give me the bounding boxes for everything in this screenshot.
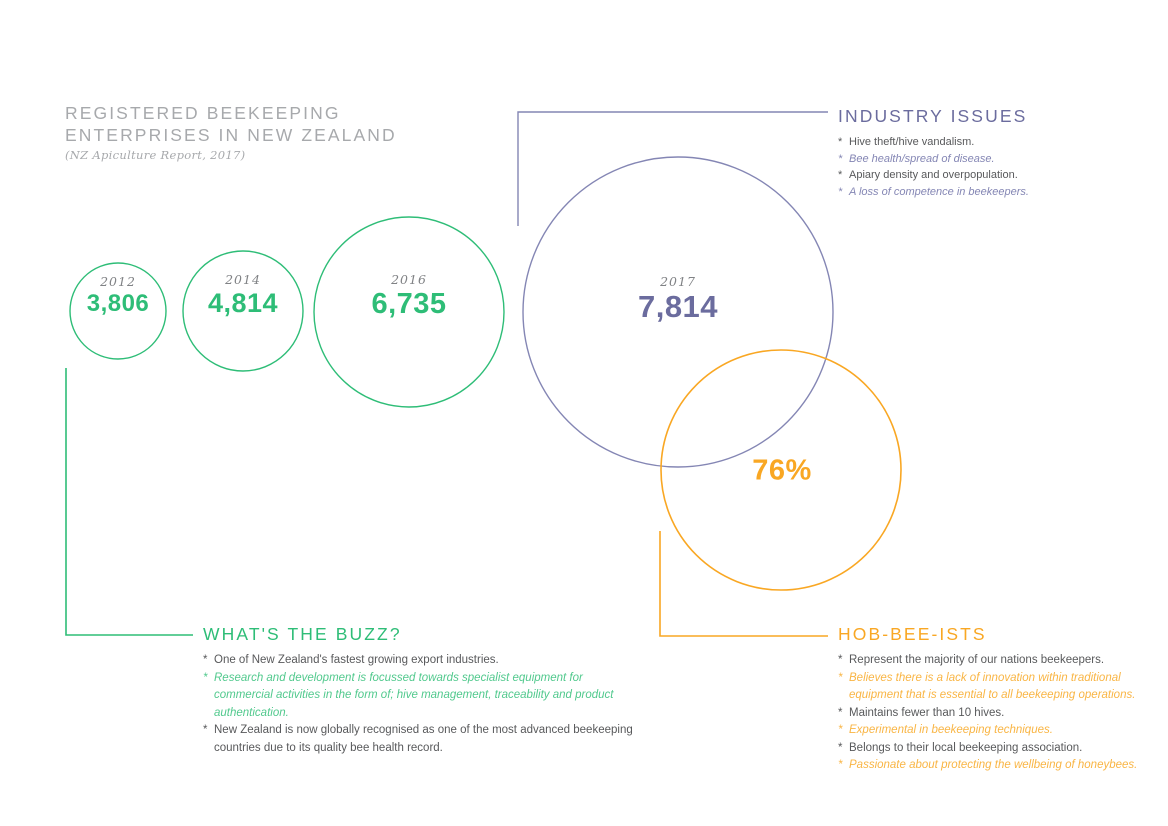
panel-industry-issues-list: *Hive theft/hive vandalism.*Bee health/s… (838, 134, 1138, 200)
list-item: *Bee health/spread of disease. (838, 151, 1138, 168)
bubble-value-2017: 7,814 (638, 291, 718, 324)
panel-hobbeeists-list: *Represent the majority of our nations b… (838, 652, 1138, 775)
bubble-label-2017: 2017 7,814 (638, 274, 718, 324)
bullet-marker: * (838, 740, 842, 758)
list-item: *Experimental in beekeeping techniques. (838, 722, 1138, 740)
bullet-marker: * (838, 670, 842, 688)
list-item: *Hive theft/hive vandalism. (838, 134, 1138, 151)
list-item-text: New Zealand is now globally recognised a… (214, 724, 633, 754)
list-item: *New Zealand is now globally recognised … (203, 722, 633, 757)
bubble-year-2012: 2012 (87, 274, 150, 289)
bubble-year-2017: 2017 (638, 274, 718, 289)
list-item-text: Belongs to their local beekeeping associ… (849, 742, 1082, 754)
list-item-text: Maintains fewer than 10 hives. (849, 707, 1004, 719)
list-item-text: Research and development is focussed tow… (214, 672, 614, 719)
list-item: *Apiary density and overpopulation. (838, 167, 1138, 184)
list-item: *Believes there is a lack of innovation … (838, 670, 1138, 705)
page-title: REGISTERED BEEKEEPING ENTERPRISES IN NEW… (65, 102, 535, 162)
panel-whats-the-buzz-list: *One of New Zealand's fastest growing ex… (203, 652, 633, 757)
bullet-marker: * (838, 722, 842, 740)
bubble-label-2016: 2016 6,735 (371, 272, 446, 319)
bullet-marker: * (838, 757, 842, 775)
infographic-canvas: REGISTERED BEEKEEPING ENTERPRISES IN NEW… (0, 0, 1168, 826)
list-item-text: Represent the majority of our nations be… (849, 654, 1104, 666)
list-item-text: A loss of competence in beekeepers. (849, 186, 1029, 198)
bubble-year-2016: 2016 (371, 272, 446, 287)
bubble-label-2014: 2014 4,814 (208, 272, 278, 317)
connector-line-buzz (66, 368, 193, 635)
bullet-marker: * (203, 722, 207, 740)
page-title-source: (NZ Apiculture Report, 2017) (65, 148, 535, 162)
bubble-year-2014: 2014 (208, 272, 278, 287)
bullet-marker: * (838, 167, 842, 184)
bullet-marker: * (838, 151, 842, 168)
list-item: *Represent the majority of our nations b… (838, 652, 1138, 670)
list-item-text: Experimental in beekeeping techniques. (849, 724, 1053, 736)
bullet-marker: * (838, 652, 842, 670)
list-item-text: Apiary density and overpopulation. (849, 169, 1018, 181)
bullet-marker: * (838, 184, 842, 201)
panel-hobbeeists-heading: HOB-BEE-ISTS (838, 623, 1138, 645)
panel-industry-issues: INDUSTRY ISSUES *Hive theft/hive vandali… (838, 105, 1138, 200)
list-item: *One of New Zealand's fastest growing ex… (203, 652, 633, 670)
list-item: *Research and development is focussed to… (203, 670, 633, 723)
list-item-text: One of New Zealand's fastest growing exp… (214, 654, 499, 666)
panel-whats-the-buzz-heading: WHAT'S THE BUZZ? (203, 623, 633, 645)
panel-industry-issues-heading: INDUSTRY ISSUES (838, 105, 1138, 127)
list-item: *A loss of competence in beekeepers. (838, 184, 1138, 201)
bullet-marker: * (838, 705, 842, 723)
list-item: *Belongs to their local beekeeping assoc… (838, 740, 1138, 758)
list-item: *Maintains fewer than 10 hives. (838, 705, 1138, 723)
list-item: *Passionate about protecting the wellbei… (838, 757, 1138, 775)
connector-line-industry (518, 112, 828, 226)
panel-hobbeeists: HOB-BEE-ISTS *Represent the majority of … (838, 623, 1138, 775)
page-title-line-1: REGISTERED BEEKEEPING (65, 102, 535, 124)
page-title-line-2: ENTERPRISES IN NEW ZEALAND (65, 124, 535, 146)
bubble-value-2016: 6,735 (371, 289, 446, 319)
list-item-text: Bee health/spread of disease. (849, 153, 995, 165)
bubble-value-2012: 3,806 (87, 291, 150, 316)
bullet-marker: * (838, 134, 842, 151)
list-item-text: Passionate about protecting the wellbein… (849, 759, 1137, 771)
bubble-value-2014: 4,814 (208, 289, 278, 317)
bullet-marker: * (203, 652, 207, 670)
list-item-text: Believes there is a lack of innovation w… (849, 672, 1135, 702)
bubble-value-percent: 76% (752, 455, 812, 488)
list-item-text: Hive theft/hive vandalism. (849, 136, 974, 148)
panel-whats-the-buzz: WHAT'S THE BUZZ? *One of New Zealand's f… (203, 623, 633, 757)
bubble-label-2012: 2012 3,806 (87, 274, 150, 316)
bullet-marker: * (203, 670, 207, 688)
